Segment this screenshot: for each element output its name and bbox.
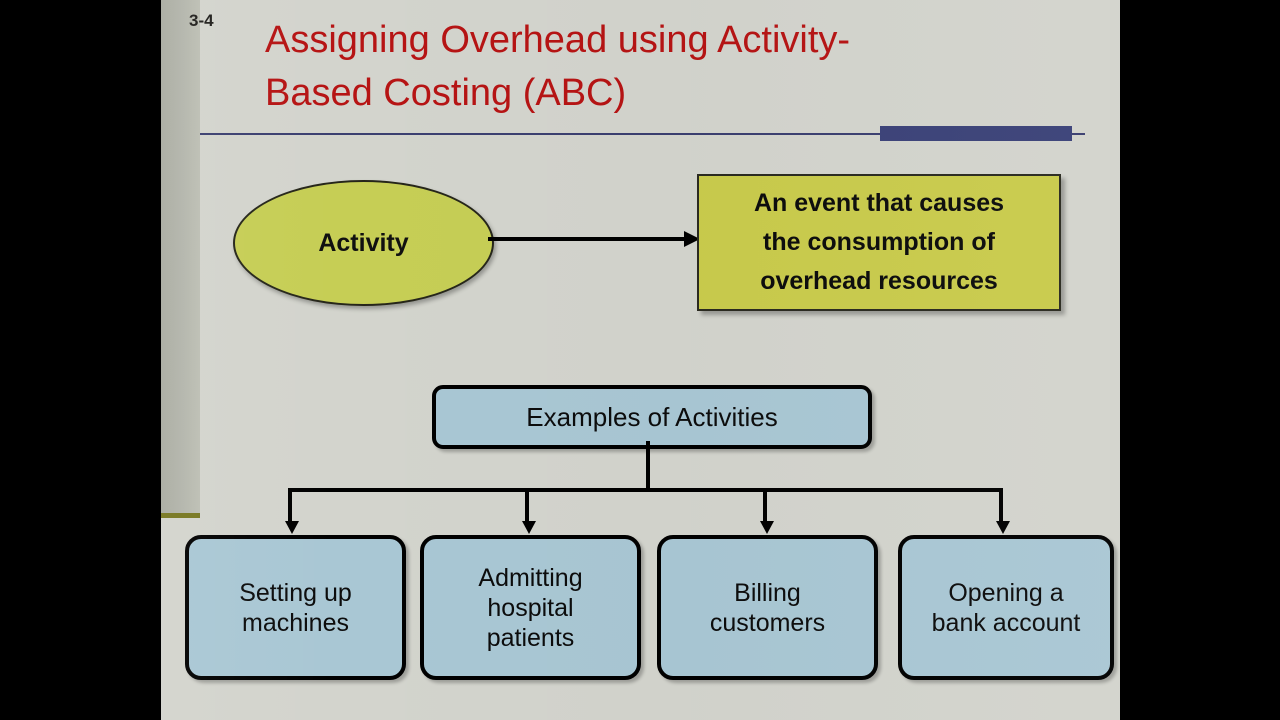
arrow-shaft — [488, 237, 688, 241]
example-box-opening-a-bank-account: Opening a bank account — [898, 535, 1114, 680]
definition-line-2: the consumption of — [763, 223, 995, 262]
definition-line-1: An event that causes — [754, 184, 1004, 223]
connector-drop-1 — [288, 488, 292, 524]
connector-stem — [646, 441, 650, 491]
example-box-setting-up-machines: Setting up machines — [185, 535, 406, 680]
presentation-slide: 3-4 Assigning Overhead using Activity- B… — [161, 0, 1120, 720]
connector-horizontal-bus — [288, 488, 1003, 492]
example-line: Opening a — [948, 578, 1063, 608]
connector-drop-2 — [525, 488, 529, 524]
connector-drop-3 — [763, 488, 767, 524]
slide-number: 3-4 — [189, 11, 214, 31]
page-title: Assigning Overhead using Activity- Based… — [265, 14, 1055, 120]
example-line: Billing — [734, 578, 801, 608]
connector-arrow-head-1-icon — [285, 521, 299, 534]
connector-drop-4 — [999, 488, 1003, 524]
example-line: Setting up — [239, 578, 352, 608]
definition-line-3: overhead resources — [760, 262, 998, 301]
example-line: Admitting — [478, 563, 582, 593]
example-line: bank account — [932, 608, 1081, 638]
page-title-line-2: Based Costing (ABC) — [265, 67, 1055, 120]
activity-ellipse-label: Activity — [318, 229, 408, 258]
video-stage: 3-4 Assigning Overhead using Activity- B… — [0, 0, 1280, 720]
examples-of-activities-box: Examples of Activities — [432, 385, 872, 449]
left-decorative-stripe — [161, 0, 200, 513]
example-box-billing-customers: Billing customers — [657, 535, 878, 680]
example-line: machines — [242, 608, 349, 638]
example-box-admitting-hospital-patients: Admitting hospital patients — [420, 535, 641, 680]
title-accent-bar — [880, 126, 1072, 141]
example-line: patients — [487, 623, 575, 653]
left-stripe-accent-cap — [161, 513, 200, 518]
definition-callout-box: An event that causes the consumption of … — [697, 174, 1061, 311]
example-line: customers — [710, 608, 825, 638]
connector-arrow-head-2-icon — [522, 521, 536, 534]
page-title-line-1: Assigning Overhead using Activity- — [265, 14, 1055, 67]
examples-of-activities-label: Examples of Activities — [526, 402, 777, 433]
activity-to-definition-arrow-icon — [488, 236, 700, 241]
connector-arrow-head-3-icon — [760, 521, 774, 534]
connector-arrow-head-4-icon — [996, 521, 1010, 534]
activity-ellipse-node: Activity — [233, 180, 494, 306]
example-line: hospital — [487, 593, 573, 623]
